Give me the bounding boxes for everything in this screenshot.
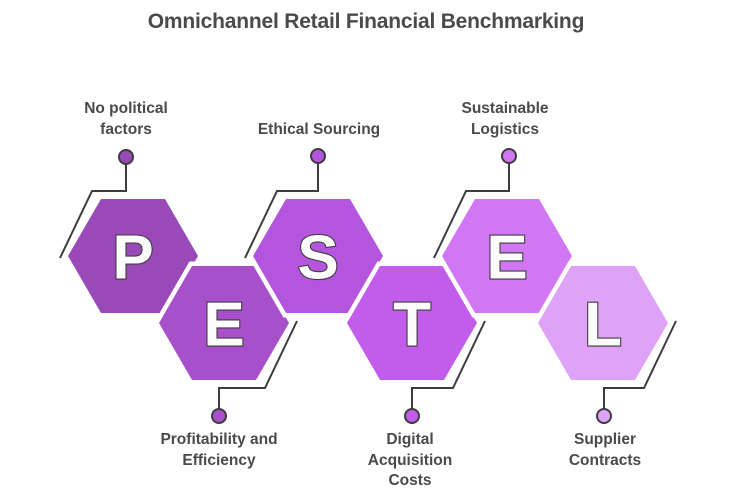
node-label-l-5: Supplier Contracts	[505, 430, 705, 471]
node-label-s-2: Ethical Sourcing	[219, 120, 419, 141]
hexagon-letter: S	[297, 224, 338, 293]
connector-dot[interactable]	[119, 150, 133, 164]
hexagon-letter: P	[112, 224, 153, 293]
hexagon-letter: L	[584, 291, 622, 360]
connector-dot[interactable]	[502, 149, 516, 163]
pestel-diagram: PESTEL	[0, 0, 732, 501]
connector-dot[interactable]	[597, 409, 611, 423]
hexagon-group: PESTEL	[68, 199, 668, 380]
hexagon-letter: E	[203, 291, 244, 360]
connector-dot[interactable]	[311, 149, 325, 163]
hexagon-letter: T	[393, 291, 431, 360]
node-label-t-3: Digital Acquisition Costs	[310, 430, 510, 492]
connector-dot[interactable]	[405, 409, 419, 423]
connector-dot[interactable]	[212, 409, 226, 423]
node-label-p-0: No political factors	[26, 99, 226, 140]
node-label-e-4: Sustainable Logistics	[405, 99, 605, 140]
node-label-e-1: Profitability and Efficiency	[119, 430, 319, 471]
hexagon-letter: E	[486, 224, 527, 293]
